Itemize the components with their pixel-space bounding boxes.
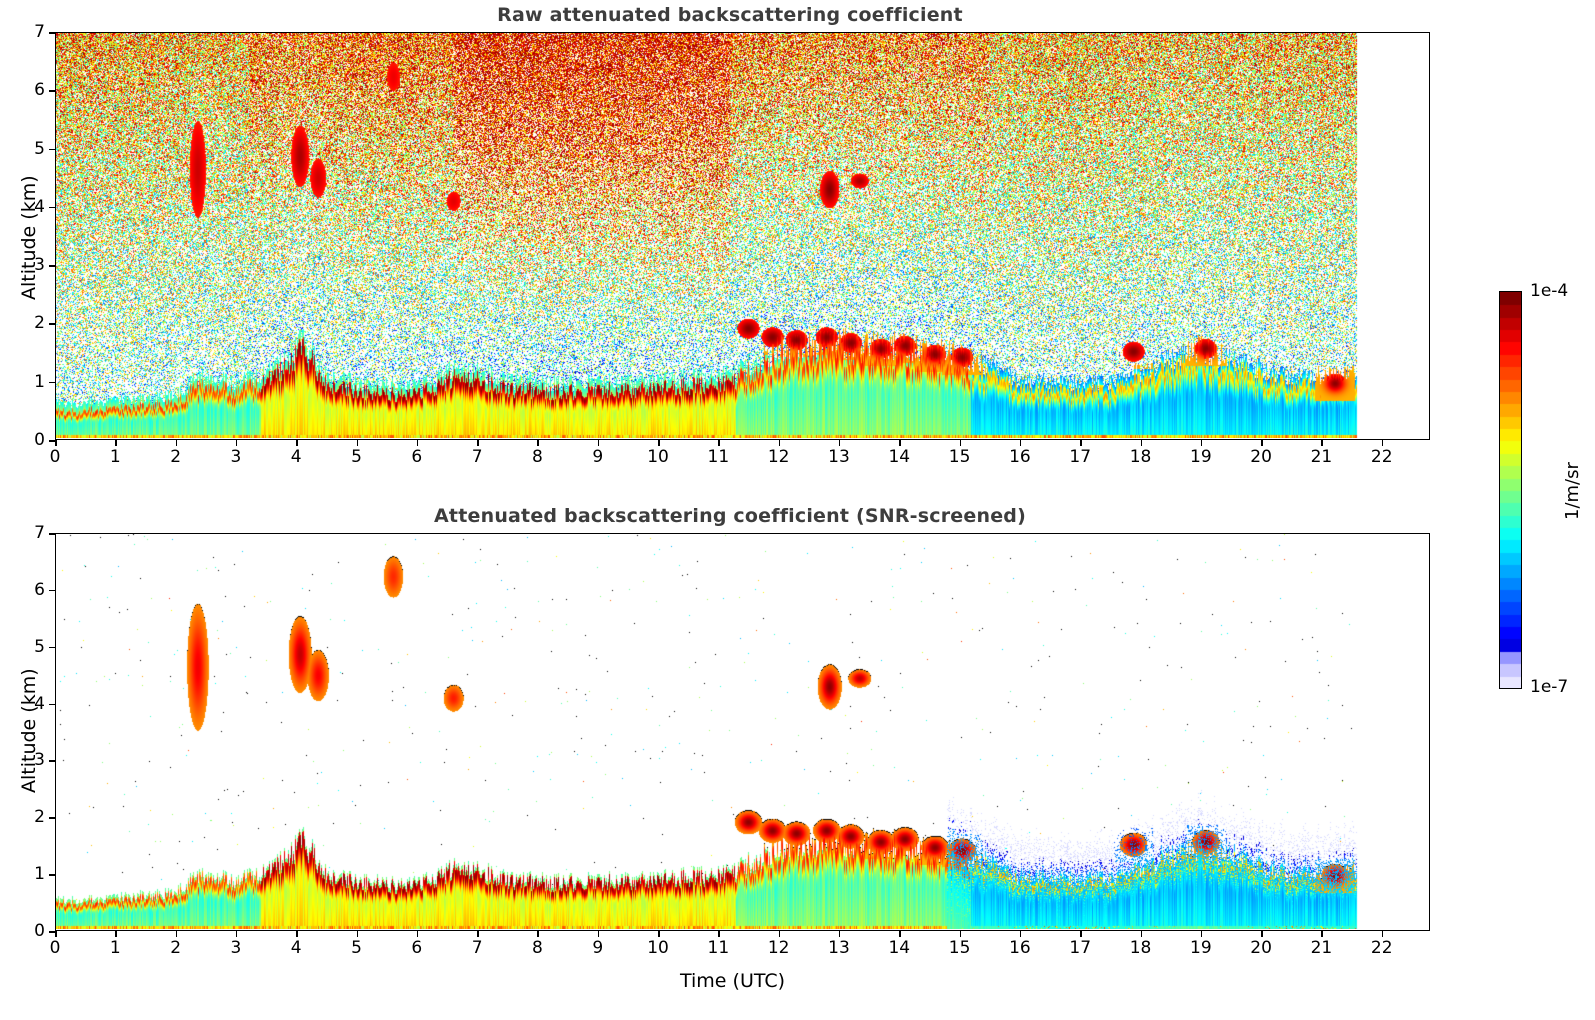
x-tick-label: 1 [110,938,121,958]
y-tick [49,817,55,819]
y-tick [49,32,55,34]
x-tick-label: 14 [888,938,910,958]
x-tick-label: 19 [1190,447,1212,467]
y-tick [49,647,55,649]
x-tick [839,931,841,937]
y-tick-label: 6 [21,80,45,100]
x-tick-label: 15 [949,938,971,958]
y-tick [49,265,55,267]
y-tick [49,207,55,209]
x-tick [1321,440,1323,446]
x-tick-label: 17 [1069,447,1091,467]
x-tick [899,440,901,446]
colorbar-unit-label: 1/m/sr [1562,462,1583,520]
y-tick [49,931,55,933]
figure-root: Raw attenuated backscattering coefficien… [0,0,1595,1020]
colorbar [1499,291,1522,689]
x-tick-label: 12 [768,938,790,958]
x-tick [477,931,479,937]
y-tick-label: 7 [21,523,45,543]
x-tick-label: 16 [1009,938,1031,958]
x-tick [537,440,539,446]
y-tick-label: 0 [21,921,45,941]
x-tick [236,931,238,937]
x-tick [176,931,178,937]
y-tick [49,874,55,876]
x-tick [779,931,781,937]
x-tick [1261,931,1263,937]
raw-backscatter-heatmap [56,33,1428,438]
x-tick-label: 0 [50,447,61,467]
x-tick-label: 1 [110,447,121,467]
x-tick-label: 6 [411,938,422,958]
y-tick [49,704,55,706]
x-tick [598,931,600,937]
x-tick-label: 13 [828,938,850,958]
y-tick-label: 5 [21,637,45,657]
x-tick-label: 11 [708,447,730,467]
x-tick [598,440,600,446]
x-tick-label: 16 [1009,447,1031,467]
x-tick [55,440,57,446]
x-tick-label: 7 [472,938,483,958]
x-tick-label: 13 [828,447,850,467]
x-tick-label: 10 [647,938,669,958]
panel-screened-title: Attenuated backscattering coefficient (S… [0,505,1460,527]
x-tick-label: 3 [230,938,241,958]
x-tick [1201,440,1203,446]
x-tick [779,440,781,446]
x-tick-label: 22 [1371,938,1393,958]
y-tick-label: 1 [21,372,45,392]
y-tick [49,382,55,384]
x-tick-label: 8 [532,447,543,467]
x-tick [296,440,298,446]
x-tick [1201,931,1203,937]
x-tick [658,440,660,446]
x-tick [115,931,117,937]
x-tick-label: 21 [1311,447,1333,467]
colorbar-min-label: 1e-7 [1530,677,1568,697]
panel-raw-title: Raw attenuated backscattering coefficien… [0,4,1460,26]
x-tick-label: 8 [532,938,543,958]
x-tick-label: 3 [230,447,241,467]
y-tick [49,760,55,762]
x-tick-label: 0 [50,938,61,958]
x-tick-label: 20 [1250,447,1272,467]
x-tick [537,931,539,937]
x-tick-label: 17 [1069,938,1091,958]
x-tick-label: 5 [351,938,362,958]
x-tick [357,440,359,446]
x-tick-label: 14 [888,447,910,467]
panel-screened: Attenuated backscattering coefficient (S… [0,498,1460,1020]
x-tick-label: 19 [1190,938,1212,958]
x-tick-label: 4 [291,447,302,467]
y-tick [49,440,55,442]
axes-raw [55,32,1430,440]
y-tick [49,323,55,325]
x-tick-label: 5 [351,447,362,467]
x-tick [960,440,962,446]
x-tick [1261,440,1263,446]
x-tick-label: 15 [949,447,971,467]
panel-raw: Raw attenuated backscattering coefficien… [0,0,1460,500]
axes-screened [55,533,1430,931]
x-tick-label: 2 [170,938,181,958]
x-tick-label: 22 [1371,447,1393,467]
x-tick-label: 11 [708,938,730,958]
x-tick-label: 20 [1250,938,1272,958]
x-tick [1020,931,1022,937]
x-tick [417,931,419,937]
x-tick [115,440,117,446]
x-tick-label: 4 [291,938,302,958]
y-tick-label: 0 [21,430,45,450]
x-tick-label: 10 [647,447,669,467]
panel-screened-xlabel: Time (UTC) [680,970,785,992]
x-tick [1080,931,1082,937]
panel-raw-ylabel: Altitude (km) [18,175,40,300]
y-tick-label: 5 [21,139,45,159]
x-tick [296,931,298,937]
x-tick [839,440,841,446]
x-tick [477,440,479,446]
x-tick [236,440,238,446]
x-tick [1382,931,1384,937]
y-tick-label: 1 [21,864,45,884]
x-tick [357,931,359,937]
y-tick-label: 2 [21,313,45,333]
x-tick-label: 9 [592,447,603,467]
x-tick-label: 6 [411,447,422,467]
x-tick-label: 2 [170,447,181,467]
x-tick-label: 7 [472,447,483,467]
x-tick [960,931,962,937]
x-tick-label: 12 [768,447,790,467]
y-tick [49,149,55,151]
x-tick [1141,440,1143,446]
y-tick [49,533,55,535]
x-tick-label: 18 [1130,938,1152,958]
x-tick [899,931,901,937]
y-tick [49,590,55,592]
screened-backscatter-heatmap [56,534,1428,929]
x-tick [55,931,57,937]
x-tick-label: 18 [1130,447,1152,467]
x-tick [1382,440,1384,446]
y-tick [49,90,55,92]
x-tick [417,440,419,446]
colorbar-gradient [1500,292,1521,688]
colorbar-max-label: 1e-4 [1530,281,1568,301]
y-tick-label: 2 [21,807,45,827]
x-tick-label: 9 [592,938,603,958]
panel-screened-ylabel: Altitude (km) [18,668,40,793]
x-tick [1080,440,1082,446]
x-tick [718,440,720,446]
x-tick [718,931,720,937]
x-tick [176,440,178,446]
x-tick [1020,440,1022,446]
x-tick [1141,931,1143,937]
x-tick [1321,931,1323,937]
x-tick-label: 21 [1311,938,1333,958]
x-tick [658,931,660,937]
y-tick-label: 7 [21,22,45,42]
y-tick-label: 6 [21,580,45,600]
